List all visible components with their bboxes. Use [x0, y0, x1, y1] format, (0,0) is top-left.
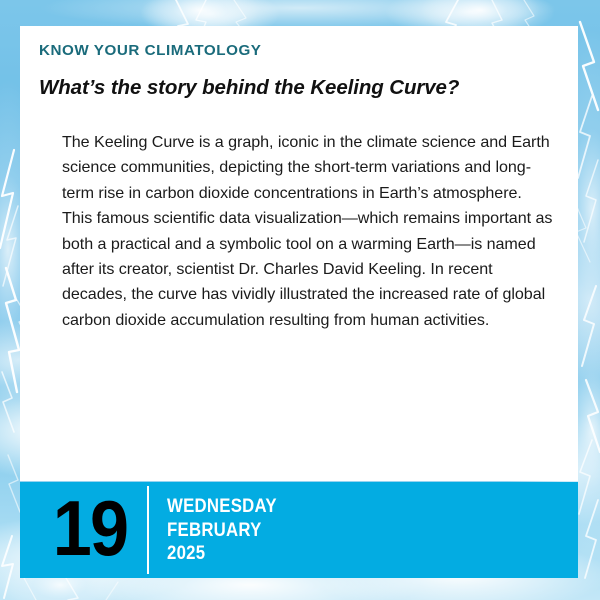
date-text-block: WEDNESDAY FEBRUARY 2025	[167, 495, 277, 566]
date-weekday: WEDNESDAY	[167, 495, 277, 519]
date-divider	[147, 486, 149, 574]
body-copy: The Keeling Curve is a graph, iconic in …	[62, 130, 554, 333]
body-paragraph: The Keeling Curve is a graph, iconic in …	[62, 130, 554, 333]
section-eyebrow-label: KNOW YOUR CLIMATOLOGY	[39, 42, 261, 59]
page-title: What’s the story behind the Keeling Curv…	[39, 76, 459, 100]
date-bar: 19 WEDNESDAY FEBRUARY 2025	[20, 482, 578, 578]
date-day-number: 19	[40, 480, 141, 576]
date-year: 2025	[167, 542, 277, 566]
calendar-page: KNOW YOUR CLIMATOLOGY What’s the story b…	[0, 0, 600, 600]
date-month: FEBRUARY	[167, 519, 277, 543]
content-card: KNOW YOUR CLIMATOLOGY What’s the story b…	[20, 26, 578, 481]
